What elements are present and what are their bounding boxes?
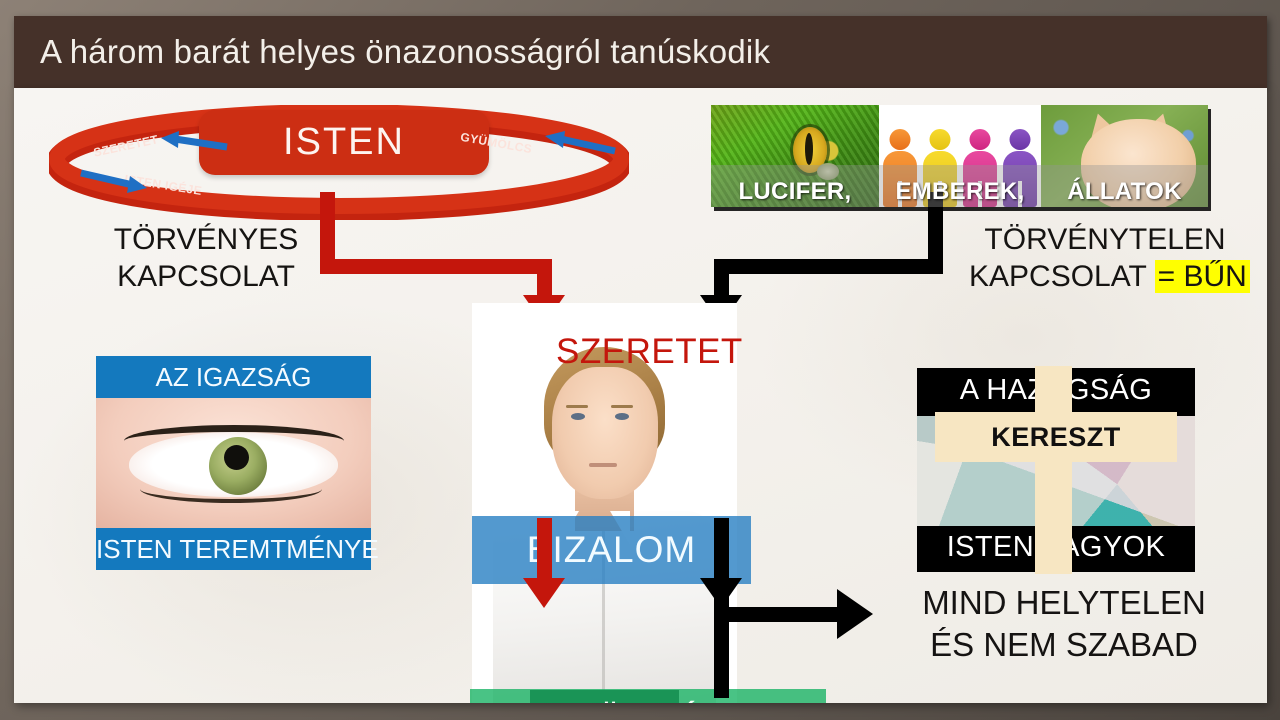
unlawful-heading-line1: TÖRVÉNYTELEN	[969, 222, 1241, 259]
panel-humans: EMBEREK,	[879, 105, 1041, 207]
portrait-eyebrow-right	[611, 405, 633, 408]
human-eye-photo	[96, 398, 371, 528]
decision-band: DÖNTÉS	[470, 689, 826, 703]
trust-band-label: BIZALOM	[527, 529, 696, 571]
red-path-horizontal	[320, 259, 552, 274]
arrow-right-icon	[77, 167, 149, 193]
lie-cross-card: A HAZUGSÁG ISTEN VAGYOK KERESZT	[917, 368, 1195, 572]
panel-caption-lucifer: LUCIFER,	[711, 178, 879, 206]
lawful-heading-line2: KAPCSOLAT	[96, 259, 316, 296]
decision-band-label: DÖNTÉS	[568, 700, 728, 703]
black-arrowhead-right	[837, 589, 873, 639]
beings-image-strip: LUCIFER,	[711, 105, 1208, 207]
cross-icon-vertical	[1035, 366, 1072, 574]
slide-title-bar: A három barát helyes önazonosságról tanú…	[14, 16, 1267, 88]
cross-label: KERESZT	[917, 422, 1195, 453]
portrait-mouth	[589, 463, 617, 467]
red-path-vertical-c	[537, 518, 552, 586]
sin-highlight-badge: = BŰN	[1155, 260, 1250, 293]
god-center-label: ISTEN	[283, 121, 405, 164]
black-path-to-cross	[714, 607, 838, 622]
arrow-left-icon	[159, 131, 229, 155]
red-arrowhead-lower	[523, 578, 565, 608]
black-path-horizontal	[714, 259, 943, 274]
slide-content-area: ISTEN SZERETET ISTEN IGÉJE GYÜMÖLCS	[14, 88, 1267, 703]
unlawful-relation-heading: TÖRVÉNYTELEN KAPCSOLAT = BŰN	[969, 222, 1241, 295]
love-flow-label: SZERETET	[556, 332, 743, 372]
truth-card-top-caption: AZ IGAZSÁG	[96, 356, 371, 398]
arrow-left-icon	[541, 131, 619, 157]
slide-root: A három barát helyes önazonosságról tanú…	[0, 0, 1280, 720]
god-cycle-diagram: ISTEN SZERETET ISTEN IGÉJE GYÜMÖLCS	[49, 105, 629, 220]
conclusion-text: MIND HELYTELEN ÉS NEM SZABAD	[914, 582, 1214, 665]
unlawful-heading-line2: KAPCSOLAT = BŰN	[969, 259, 1241, 296]
portrait-face	[552, 367, 658, 499]
portrait-eyebrow-left	[566, 405, 588, 408]
panel-caption-animals: ÁLLATOK	[1041, 178, 1208, 206]
conclusion-line1: MIND HELYTELEN	[914, 582, 1214, 624]
eye-pupil	[224, 445, 249, 470]
lawful-heading-line1: TÖRVÉNYES	[96, 222, 316, 259]
unlawful-heading-prefix: KAPCSOLAT	[969, 260, 1155, 293]
lawful-relation-heading: TÖRVÉNYES KAPCSOLAT	[96, 222, 316, 295]
conclusion-line2: ÉS NEM SZABAD	[914, 624, 1214, 666]
page-title: A három barát helyes önazonosságról tanú…	[14, 33, 770, 71]
truth-card: AZ IGAZSÁG ISTEN TEREMTMÉNYE	[96, 356, 371, 570]
portrait-eye-right	[615, 413, 629, 420]
black-arrowhead-lower	[700, 578, 742, 608]
panel-animals: ÁLLATOK	[1041, 105, 1208, 207]
god-center-node: ISTEN	[199, 110, 489, 175]
truth-card-bottom-caption: ISTEN TEREMTMÉNYE	[96, 528, 371, 570]
panel-lucifer: LUCIFER,	[711, 105, 879, 207]
lizard-pupil-icon	[805, 133, 813, 165]
panel-caption-humans: EMBEREK,	[879, 178, 1041, 206]
trust-band: BIZALOM	[472, 516, 751, 584]
